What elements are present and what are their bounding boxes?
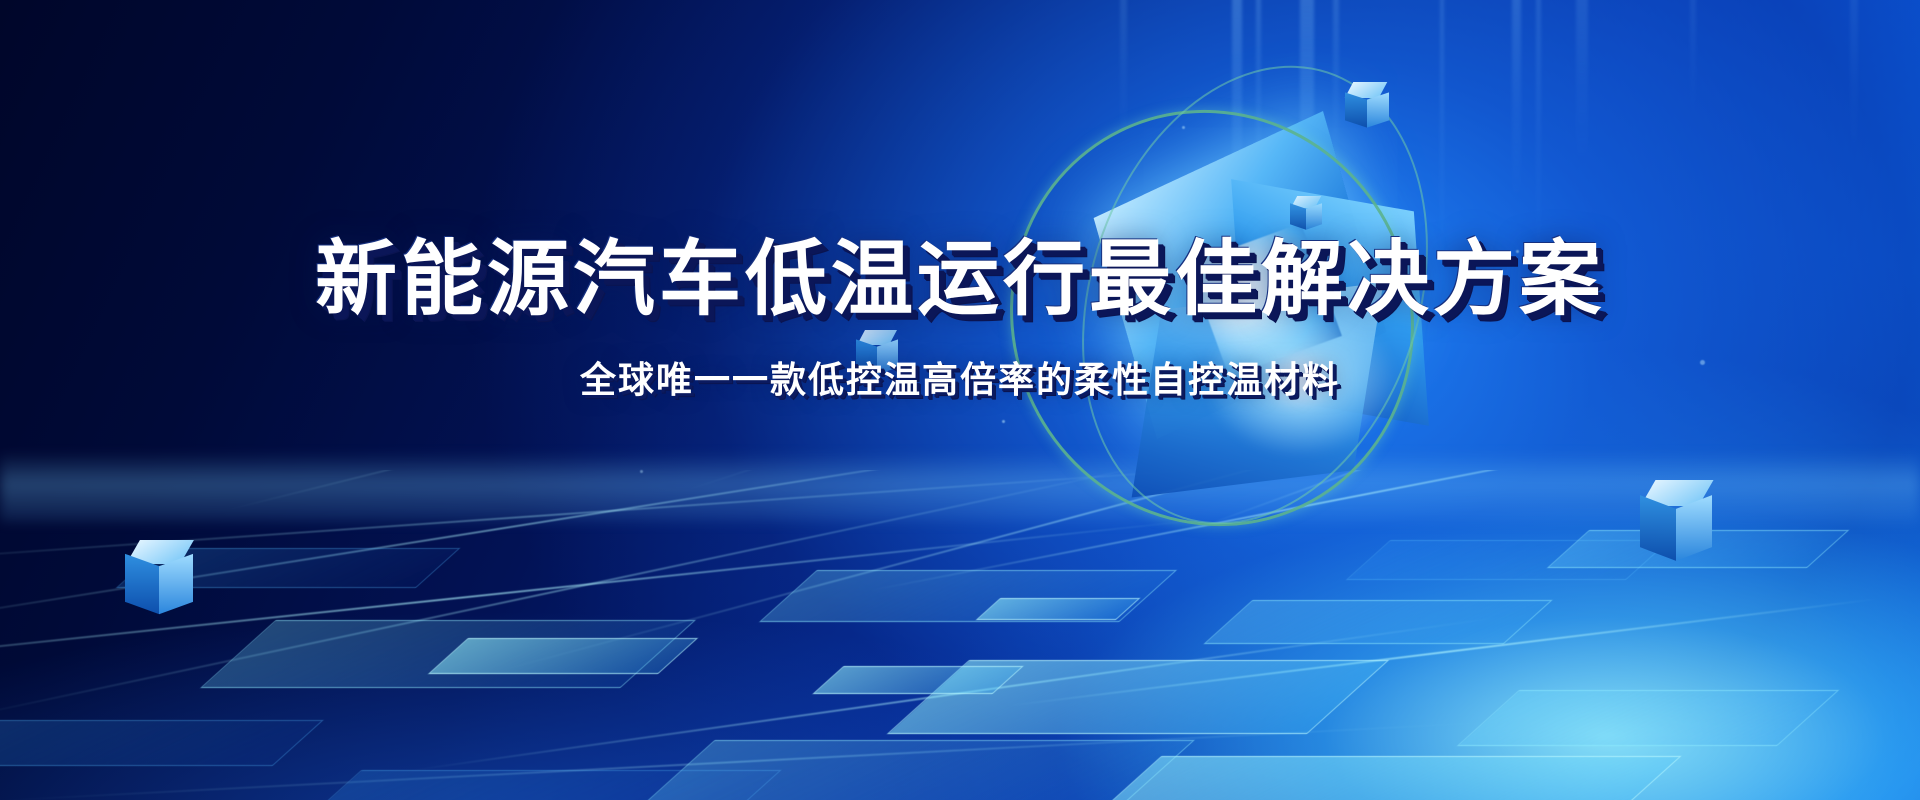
- floating-cube-graphic: [125, 540, 197, 618]
- hero-banner: 新能源汽车低温运行最佳解决方案 全球唯一一款低控温高倍率的柔性自控温材料: [0, 0, 1920, 800]
- banner-text-block: 新能源汽车低温运行最佳解决方案 全球唯一一款低控温高倍率的柔性自控温材料: [0, 232, 1920, 402]
- particle-dot: [1182, 126, 1185, 129]
- page-subtitle: 全球唯一一款低控温高倍率的柔性自控温材料: [0, 358, 1920, 402]
- floating-cube-graphic: [1640, 480, 1718, 566]
- floating-cube-graphic: [1290, 196, 1324, 232]
- perspective-grid-graphic: [0, 470, 1920, 800]
- particle-dot: [1002, 420, 1005, 423]
- page-title: 新能源汽车低温运行最佳解决方案: [0, 232, 1920, 328]
- floating-cube-graphic: [1345, 82, 1391, 128]
- particle-dot: [640, 470, 643, 473]
